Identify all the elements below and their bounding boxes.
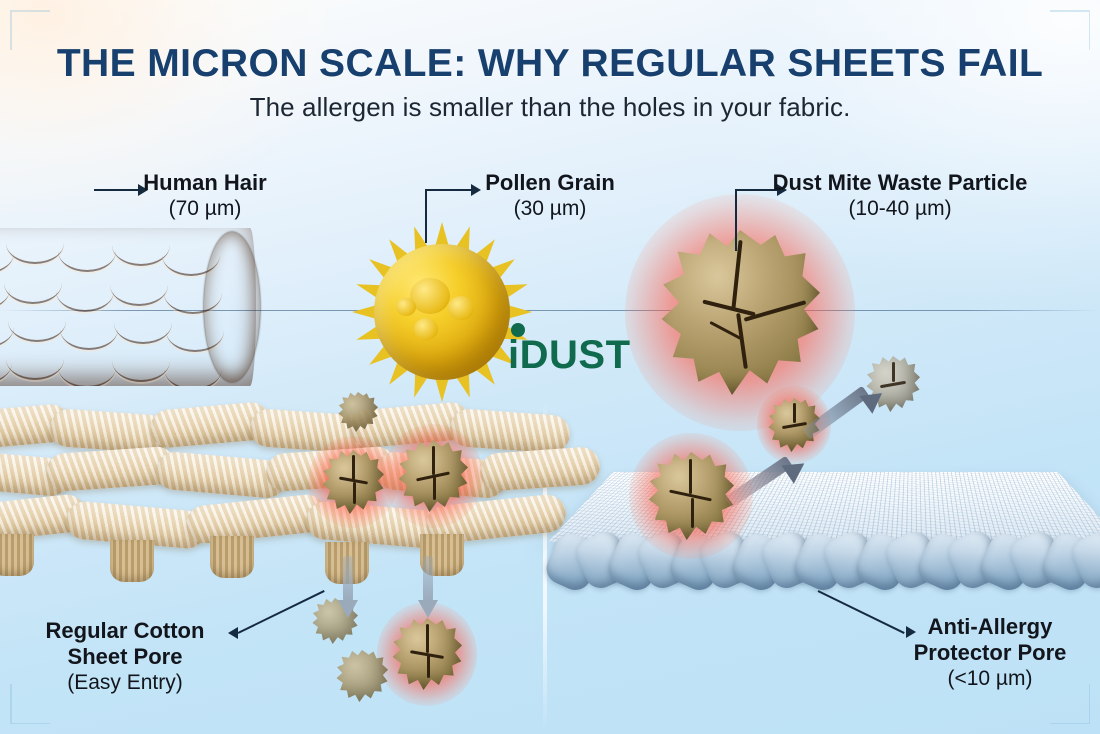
brand-logo: iDUST — [508, 335, 631, 375]
callout-pollen-grain: Pollen Grain (30 µm) — [400, 170, 700, 221]
arrow-particle-approaches-protector — [728, 452, 818, 522]
callout-size: (70 µm) — [60, 197, 350, 221]
arrow-particle-enters-cotton — [338, 556, 358, 620]
dust-particle-falling-through-cotton — [336, 650, 388, 702]
callout-line-3: (Easy Entry) — [20, 671, 230, 695]
page-subtitle: The allergen is smaller than the holes i… — [0, 92, 1100, 123]
dust-mite-particle-hero — [660, 230, 820, 395]
cotton-fiber-end — [110, 540, 154, 582]
callout-title: Pollen Grain — [400, 170, 700, 196]
protector-braided-edge — [548, 532, 1100, 594]
dust-particle-falling-through-cotton — [392, 618, 462, 690]
leader-regular-cotton-pore — [228, 588, 338, 642]
arrow-particle-enters-cotton — [418, 556, 438, 620]
callout-line-2: Sheet Pore — [20, 644, 230, 670]
callout-size: (30 µm) — [400, 197, 700, 221]
pollen-grain-illustration — [352, 222, 532, 402]
callout-line-2: Protector Pore — [880, 640, 1100, 666]
infographic-canvas: THE MICRON SCALE: WHY REGULAR SHEETS FAI… — [0, 0, 1100, 734]
cotton-fiber-end — [0, 534, 34, 576]
cotton-fiber-end — [210, 536, 254, 578]
callout-regular-cotton-pore: Regular Cotton Sheet Pore (Easy Entry) — [20, 618, 230, 695]
dust-particle-on-cotton — [322, 450, 384, 514]
dust-particle-on-cotton — [398, 440, 468, 512]
callout-line-1: Regular Cotton — [20, 618, 230, 644]
callout-line-3: (<10 µm) — [880, 667, 1100, 691]
callout-size: (10-40 µm) — [700, 197, 1100, 221]
arrow-particle-bounces-off-protector — [806, 378, 898, 454]
callout-human-hair: Human Hair (70 µm) — [60, 170, 350, 221]
hair-cross-section — [204, 232, 260, 382]
dust-particle-above-cotton — [338, 392, 378, 432]
callout-title: Dust Mite Waste Particle — [700, 170, 1100, 196]
logo-text: iDUST — [508, 333, 631, 377]
callout-anti-allergy-pore: Anti-Allergy Protector Pore (<10 µm) — [880, 614, 1100, 691]
human-hair-illustration — [0, 228, 256, 386]
dust-particle-blocked-by-protector — [648, 452, 734, 540]
callout-title: Human Hair — [60, 170, 350, 196]
page-title: THE MICRON SCALE: WHY REGULAR SHEETS FAI… — [0, 42, 1100, 86]
callout-line-1: Anti-Allergy — [880, 614, 1100, 640]
callout-dust-mite-waste: Dust Mite Waste Particle (10-40 µm) — [700, 170, 1100, 221]
logo-dot-icon — [511, 323, 525, 337]
